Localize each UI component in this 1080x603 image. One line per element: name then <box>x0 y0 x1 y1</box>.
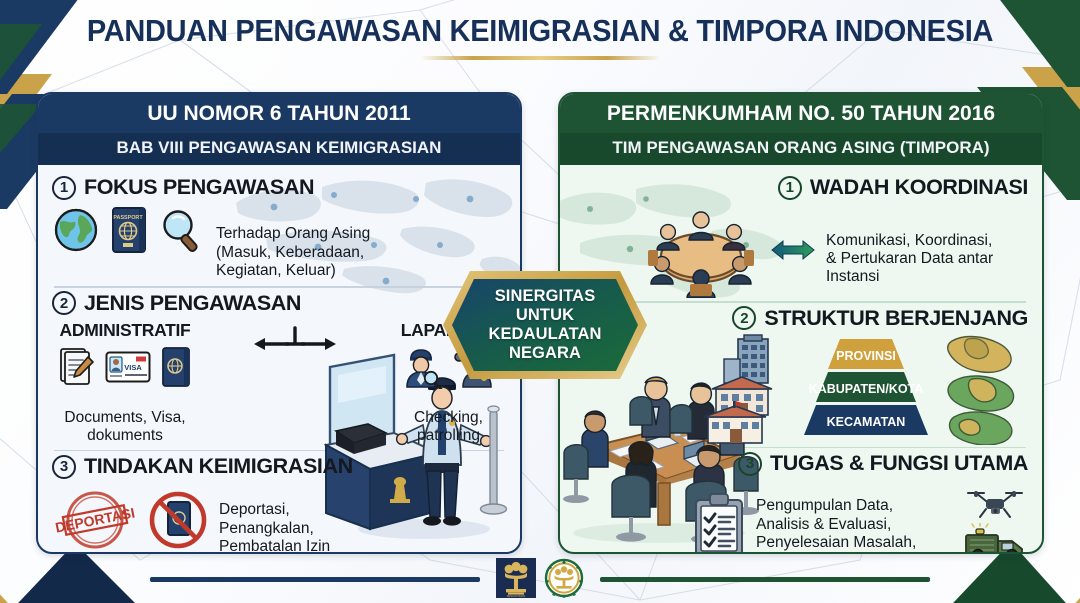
section-heading: WADAH KOORDINASI <box>810 175 1028 200</box>
hex-line-3: KEDAULATAN <box>488 325 601 344</box>
passport-icon <box>160 345 192 389</box>
number-badge: 3 <box>52 455 76 479</box>
left-section-1-icons: PASSPORT <box>52 205 206 255</box>
round-table-meeting-icon <box>642 202 760 298</box>
left-header-main: UU NOMOR 6 TAHUN 2011 <box>38 94 520 133</box>
title-underline <box>420 56 660 60</box>
magnifier-icon <box>158 206 206 254</box>
passport-icon: PASSPORT <box>109 205 149 255</box>
imigrasi-logo <box>544 558 584 598</box>
right-header-main: PERMENKUMHAM NO. 50 TAHUN 2016 <box>560 94 1042 133</box>
left-section-2-columns: ADMINISTRATIF <box>52 320 506 445</box>
government-buildings-icons <box>698 333 790 445</box>
hex-line-1: SINERGITAS <box>495 287 596 306</box>
left-section-2-title: 2 JENIS PENGAWASAN <box>52 291 506 316</box>
column-administratif: ADMINISTRATIF <box>58 320 192 445</box>
right-panel-header: PERMENKUMHAM NO. 50 TAHUN 2016 TIM PENGA… <box>560 94 1042 165</box>
struktur-pyramid: PROVINSI KABUPATEN/KOTA KECAMATAN <box>792 335 940 443</box>
page-title: PANDUAN PENGAWASAN KEIMIGRASIAN & TIMPOR… <box>27 14 1053 49</box>
kemenkumham-logo: PENGAYOMAN <box>496 558 536 598</box>
section-heading: FOKUS PENGAWASAN <box>84 175 314 200</box>
right-section-3-description: Pengumpulan Data, Analisis & Evaluasi, P… <box>756 479 952 554</box>
pyramid-label-kabupaten: KABUPATEN/KOTA <box>809 382 924 396</box>
right-section-1-title: 1 WADAH KOORDINASI <box>574 175 1028 200</box>
column-caption: Checking, patrolling <box>397 391 500 445</box>
svg-text:PENGAYOMAN: PENGAYOMAN <box>507 594 526 598</box>
divider-1 <box>54 286 504 288</box>
sinergitas-hexagon: SINERGITAS UNTUK KEDAULATAN NEGARA <box>440 268 650 382</box>
number-badge: 1 <box>52 176 76 200</box>
right-section-3: 3 TUGAS & FUNGSI UTAMA <box>574 451 1028 554</box>
hex-line-2: UNTUK <box>516 306 574 325</box>
left-section-1-title: 1 FOKUS PENGAWASAN <box>52 175 506 200</box>
section-heading: JENIS PENGAWASAN <box>84 291 301 316</box>
left-section-1-description: Terhadap Orang Asing (Masuk, Keberadaan,… <box>216 205 370 280</box>
left-panel-header: UU NOMOR 6 TAHUN 2011 BAB VIII PENGAWASA… <box>38 94 520 165</box>
split-arrow-icon <box>252 320 338 375</box>
right-section-1-description: Komunikasi, Koordinasi, & Pertukaran Dat… <box>826 213 1028 286</box>
footer-logos: PENGAYOMAN <box>0 558 1080 598</box>
left-section-3-content: DEPORTASI Deportasi, Penangkalan, Pembat… <box>52 483 506 554</box>
document-pen-icon <box>58 345 96 389</box>
left-section-3: 3 TINDAKAN KEIMIGRASIAN DEPORTASI <box>52 454 506 554</box>
number-badge: 2 <box>732 306 756 330</box>
region-map-icon <box>942 333 1028 445</box>
hexagon-text: SINERGITAS UNTUK KEDAULATAN NEGARA <box>440 268 650 382</box>
column-caption: Documents, Visa, dokuments <box>58 391 192 445</box>
visa-card-icon: VISA <box>105 350 151 384</box>
svg-text:VISA: VISA <box>124 363 142 372</box>
left-section-3-title: 3 TINDAKAN KEIMIGRASIAN <box>52 454 506 479</box>
right-section-3-icons <box>962 487 1028 554</box>
administratif-icons: VISA <box>58 345 192 389</box>
deportasi-stamp-icon: DEPORTASI <box>52 489 138 551</box>
title-block: PANDUAN PENGAWASAN KEIMIGRASIAN & TIMPOR… <box>0 14 1080 60</box>
globe-icon <box>52 206 100 254</box>
left-section-1: 1 FOKUS PENGAWASAN PASSP <box>52 175 506 280</box>
tower-building-icon <box>724 335 768 383</box>
left-section-3-description: Deportasi, Penangkalan, Pembatalan Izin <box>219 483 330 554</box>
section-heading: TINDAKAN KEIMIGRASIAN <box>84 454 353 479</box>
double-arrow-icon <box>770 237 816 263</box>
passport-banned-icon <box>147 489 209 551</box>
patrol-truck-icon <box>962 523 1028 554</box>
right-header-sub: TIM PENGAWASAN ORANG ASING (TIMPORA) <box>560 133 1042 165</box>
column-heading: ADMINISTRATIF <box>58 320 192 341</box>
left-header-sub: BAB VIII PENGAWASAN KEIMIGRASIAN <box>38 133 520 165</box>
drone-icon <box>964 487 1026 521</box>
left-section-2: 2 JENIS PENGAWASAN ADMINISTRATIF <box>52 291 506 445</box>
section-heading: STRUKTUR BERJENJANG <box>764 306 1028 331</box>
right-section-3-title: 3 TUGAS & FUNGSI UTAMA <box>574 451 1028 476</box>
right-section-3-content: Pengumpulan Data, Analisis & Evaluasi, P… <box>574 479 1028 554</box>
pyramid-label-kecamatan: KECAMATAN <box>827 415 906 429</box>
pyramid-label-provinsi: PROVINSI <box>836 349 896 363</box>
clipboard-checklist-icon <box>692 492 746 554</box>
left-section-1-content: PASSPORT Terhadap Orang Asing (Masuk, <box>52 205 506 280</box>
left-section-3-icons: DEPORTASI <box>52 489 209 551</box>
hex-line-4: NEGARA <box>509 344 581 363</box>
number-badge: 3 <box>738 452 762 476</box>
number-badge: 1 <box>778 176 802 200</box>
officer-magnifier-icon <box>397 345 445 389</box>
section-heading: TUGAS & FUNGSI UTAMA <box>770 451 1028 476</box>
svg-text:PASSPORT: PASSPORT <box>113 215 143 221</box>
description-text: Terhadap Orang Asing (Masuk, Keberadaan,… <box>216 225 370 279</box>
number-badge: 2 <box>52 291 76 315</box>
stamp-label: DEPORTASI <box>54 504 136 535</box>
